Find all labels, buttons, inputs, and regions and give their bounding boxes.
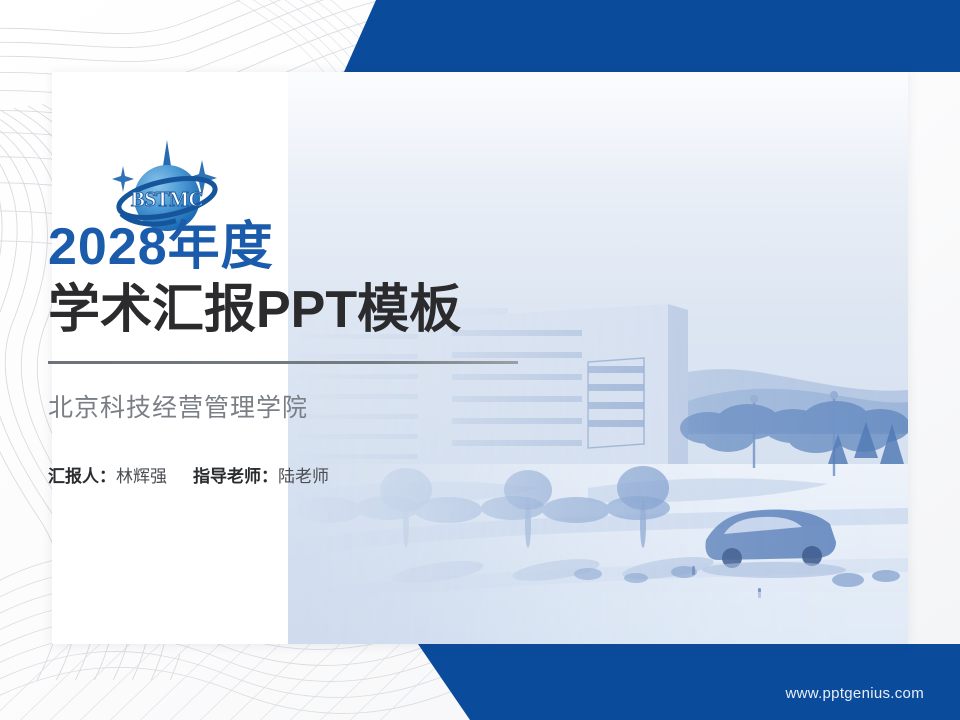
- title-block: 2028年度 学术汇报PPT模板 北京科技经营管理学院 汇报人：林辉强指导老师：…: [48, 220, 588, 487]
- logo-wordmark: BSTMC: [131, 187, 203, 211]
- presentation-slide: BSTMC 2028年度 学术汇报PPT模板 北京科技经营管理学院 汇报人：林辉…: [0, 0, 960, 720]
- advisor-name: 陆老师: [278, 467, 329, 486]
- organization-name: 北京科技经营管理学院: [48, 388, 588, 424]
- title-divider: [48, 361, 518, 364]
- presenter-name: 林辉强: [116, 467, 167, 486]
- presenter-row: 汇报人：林辉强指导老师：陆老师: [48, 462, 588, 487]
- website-url[interactable]: www.pptgenius.com: [786, 685, 925, 702]
- bottom-blue-accent-band: [0, 644, 960, 720]
- title-main: 学术汇报PPT模板: [48, 281, 588, 339]
- top-blue-accent-band: [0, 0, 960, 80]
- presenter-label: 汇报人：: [48, 467, 116, 486]
- advisor-label: 指导老师：: [193, 467, 278, 486]
- title-year: 2028年度: [48, 220, 588, 275]
